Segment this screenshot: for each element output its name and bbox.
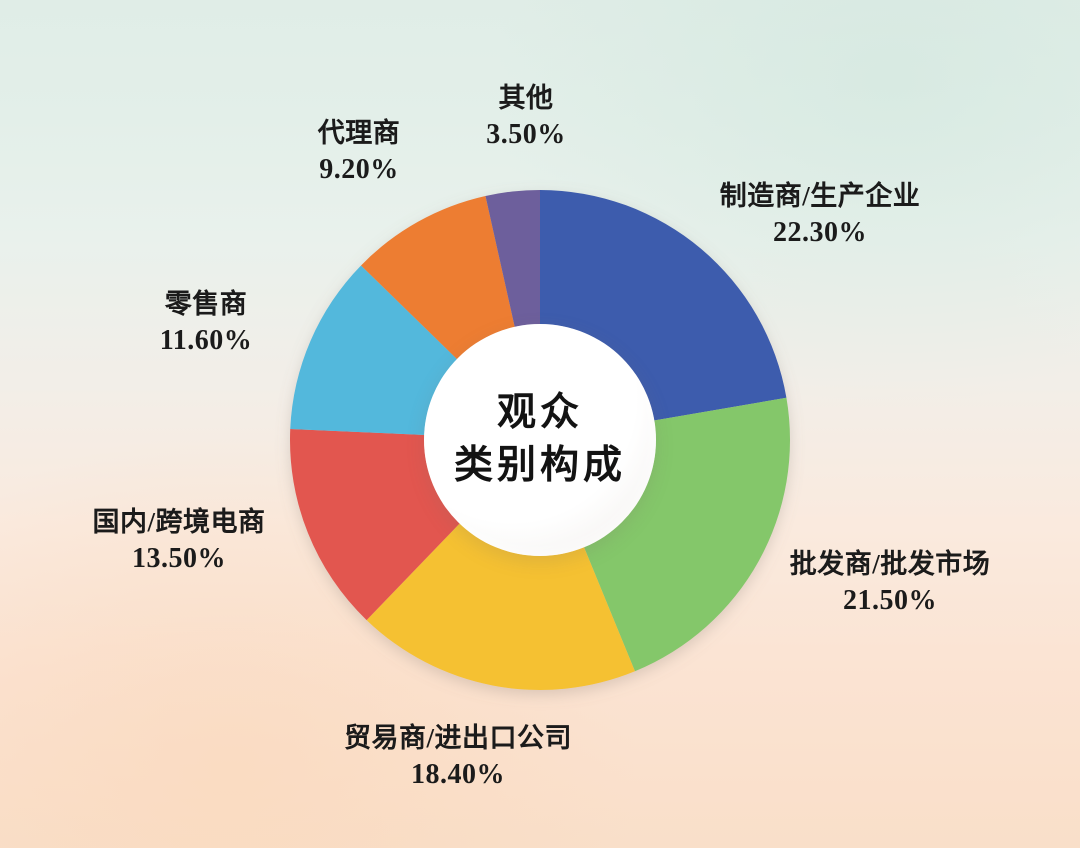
slice-label-trader-name: 贸易商/进出口公司 xyxy=(344,722,572,755)
slice-label-ecommerce-pct: 13.50% xyxy=(92,542,265,576)
slice-label-retailer: 零售商 11.60% xyxy=(160,288,252,358)
slice-label-ecommerce-name: 国内/跨境电商 xyxy=(92,506,265,539)
slice-label-wholesaler-name: 批发商/批发市场 xyxy=(790,548,991,581)
slice-label-other: 其他 3.50% xyxy=(486,82,566,152)
slice-label-other-pct: 3.50% xyxy=(486,118,566,152)
slice-label-wholesaler: 批发商/批发市场 21.50% xyxy=(790,548,991,618)
slice-label-retailer-name: 零售商 xyxy=(160,288,252,321)
slice-label-ecommerce: 国内/跨境电商 13.50% xyxy=(92,506,265,576)
slice-label-other-name: 其他 xyxy=(486,82,566,115)
slice-label-agent-name: 代理商 xyxy=(318,117,401,150)
slice-label-trader: 贸易商/进出口公司 18.40% xyxy=(344,722,572,792)
chart-canvas: 观众 类别构成 其他 3.50% 代理商 9.20% 零售商 11.60% 国内… xyxy=(0,0,1080,848)
center-title-line-1: 观众 xyxy=(497,389,583,438)
donut-chart: 观众 类别构成 xyxy=(290,190,790,690)
slice-label-wholesaler-pct: 21.50% xyxy=(790,584,991,618)
donut-center-hub: 观众 类别构成 xyxy=(424,324,656,556)
slice-label-retailer-pct: 11.60% xyxy=(160,324,252,358)
slice-label-manufacturer-pct: 22.30% xyxy=(720,216,921,250)
slice-label-trader-pct: 18.40% xyxy=(344,758,572,792)
slice-label-agent: 代理商 9.20% xyxy=(318,117,401,187)
center-title-line-2: 类别构成 xyxy=(454,442,626,491)
slice-label-manufacturer: 制造商/生产企业 22.30% xyxy=(720,180,921,250)
slice-label-manufacturer-name: 制造商/生产企业 xyxy=(720,180,921,213)
slice-label-agent-pct: 9.20% xyxy=(318,153,401,187)
